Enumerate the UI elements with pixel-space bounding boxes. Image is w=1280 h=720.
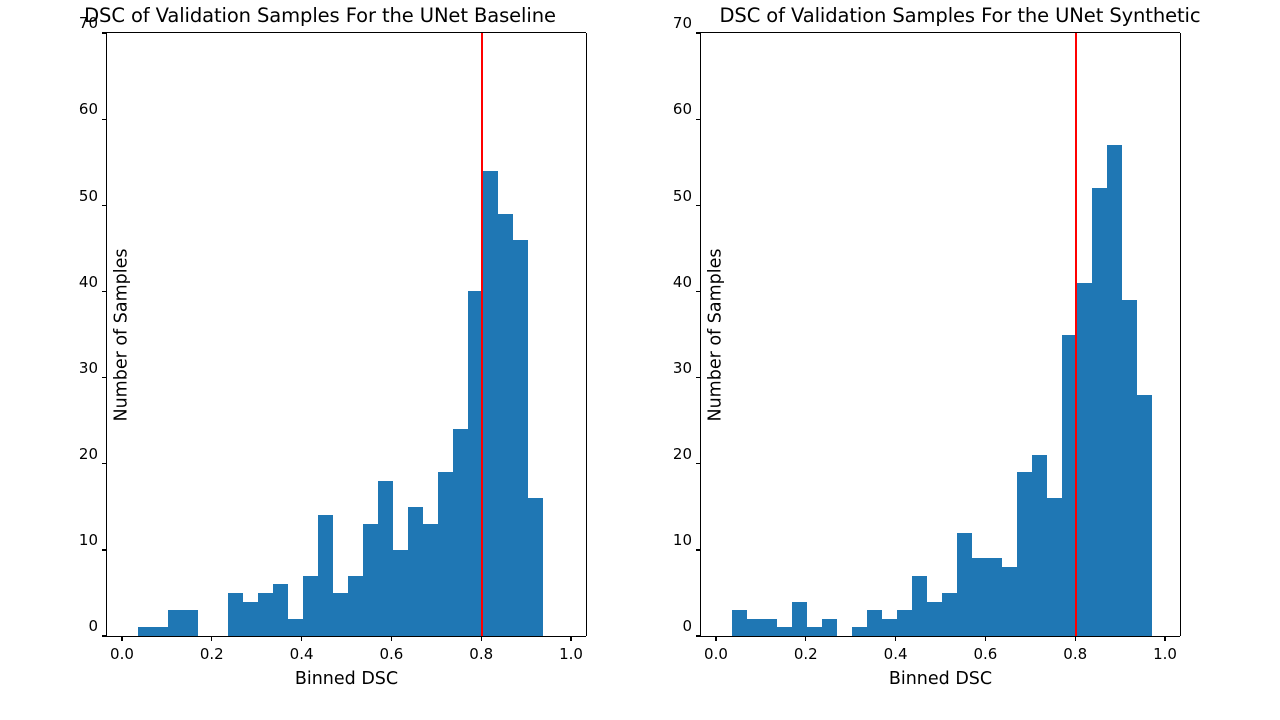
y-axis-tick — [696, 119, 701, 120]
x-axis-tick-label: 0.2 — [794, 645, 818, 663]
y-axis-tick — [102, 205, 107, 206]
histogram-bar — [513, 240, 528, 636]
histogram-bar — [1032, 455, 1047, 636]
histogram-bar — [777, 627, 792, 636]
histogram-bar — [882, 619, 897, 636]
histogram-bar — [1047, 498, 1062, 636]
y-axis-tick — [696, 377, 701, 378]
histogram-bar — [912, 576, 927, 636]
x-axis-label-synthetic: Binned DSC — [701, 669, 1180, 689]
histogram-bar — [1002, 567, 1017, 636]
threshold-vertical-line — [1075, 33, 1077, 636]
histogram-bar — [258, 593, 273, 636]
y-axis-tick — [696, 32, 701, 33]
y-axis-tick-label: 50 — [79, 187, 98, 205]
histogram-bar — [138, 627, 153, 636]
y-axis-tick — [102, 377, 107, 378]
y-axis-tick-label: 0 — [682, 617, 692, 635]
histogram-bar — [378, 481, 393, 636]
y-axis-tick — [696, 205, 701, 206]
x-axis-tick — [805, 636, 806, 641]
histogram-bars-synthetic — [701, 33, 1180, 636]
histogram-bar — [987, 558, 1002, 636]
x-axis-tick — [481, 636, 482, 641]
y-axis-tick — [102, 291, 107, 292]
x-axis-tick — [715, 636, 716, 641]
y-axis-tick — [102, 549, 107, 550]
x-axis-tick-label: 0.6 — [973, 645, 997, 663]
histogram-bar — [228, 593, 243, 636]
histogram-bar — [1092, 188, 1107, 636]
histogram-bar — [897, 610, 912, 636]
histogram-bar — [528, 498, 543, 636]
histogram-bar — [438, 472, 453, 636]
histogram-bars-baseline — [107, 33, 586, 636]
x-axis-tick — [301, 636, 302, 641]
y-axis-tick-label: 70 — [673, 14, 692, 32]
y-axis-tick-label: 60 — [673, 100, 692, 118]
x-axis-tick-label: 1.0 — [1153, 645, 1177, 663]
figure-canvas: DSC of Validation Samples For the UNet B… — [0, 0, 1280, 720]
axis-spine-right — [1180, 33, 1181, 636]
y-axis-tick-label: 40 — [673, 273, 692, 291]
histogram-bar — [303, 576, 318, 636]
x-axis-tick — [1164, 636, 1165, 641]
y-axis-tick-label: 30 — [673, 359, 692, 377]
x-axis-tick-label: 0.8 — [469, 645, 493, 663]
histogram-bar — [243, 602, 258, 636]
x-axis-tick — [985, 636, 986, 641]
histogram-bar — [318, 515, 333, 636]
histogram-bar — [1077, 283, 1092, 636]
axis-spine-right — [586, 33, 587, 636]
y-axis-tick-label: 30 — [79, 359, 98, 377]
y-axis-tick — [102, 463, 107, 464]
subplot-synthetic: DSC of Validation Samples For the UNet S… — [640, 0, 1280, 720]
subplot-baseline: DSC of Validation Samples For the UNet B… — [0, 0, 640, 720]
x-axis-tick — [1075, 636, 1076, 641]
histogram-bar — [423, 524, 438, 636]
histogram-bar — [867, 610, 882, 636]
histogram-bar — [498, 214, 513, 636]
y-axis-tick — [102, 32, 107, 33]
x-axis-tick-label: 0.0 — [110, 645, 134, 663]
histogram-bar — [1122, 300, 1137, 636]
histogram-bar — [852, 627, 867, 636]
histogram-bar — [153, 627, 168, 636]
histogram-bar — [168, 610, 183, 636]
y-axis-label-synthetic: Number of Samples — [706, 248, 726, 421]
histogram-bar — [183, 610, 198, 636]
plot-area-synthetic: 010203040506070 0.00.20.40.60.81.0 Binne… — [700, 33, 1180, 637]
histogram-bar — [1137, 395, 1152, 636]
x-axis-tick-label: 0.8 — [1063, 645, 1087, 663]
y-axis-tick — [696, 549, 701, 550]
y-axis-tick-label: 10 — [673, 531, 692, 549]
x-axis-tick-label: 0.6 — [379, 645, 403, 663]
histogram-bar — [957, 533, 972, 636]
plot-area-baseline: 010203040506070 0.00.20.40.60.81.0 Binne… — [106, 33, 586, 637]
subplot-synthetic-title: DSC of Validation Samples For the UNet S… — [640, 4, 1280, 27]
histogram-bar — [333, 593, 348, 636]
x-axis-tick — [570, 636, 571, 641]
threshold-vertical-line — [481, 33, 483, 636]
histogram-bar — [363, 524, 378, 636]
y-axis-tick — [696, 463, 701, 464]
y-axis-tick — [102, 635, 107, 636]
histogram-bar — [1107, 145, 1122, 636]
x-axis-label-baseline: Binned DSC — [107, 669, 586, 689]
histogram-bar — [927, 602, 942, 636]
y-axis-tick-label: 20 — [79, 445, 98, 463]
y-axis-tick — [696, 635, 701, 636]
histogram-bar — [273, 584, 288, 636]
x-axis-tick-label: 0.4 — [290, 645, 314, 663]
histogram-bar — [483, 171, 498, 636]
y-axis-label-baseline: Number of Samples — [112, 248, 132, 421]
y-axis-tick — [102, 119, 107, 120]
x-axis-tick-label: 0.2 — [200, 645, 224, 663]
histogram-bar — [288, 619, 303, 636]
histogram-bar — [822, 619, 837, 636]
histogram-bar — [807, 627, 822, 636]
histogram-bar — [942, 593, 957, 636]
histogram-bar — [408, 507, 423, 636]
y-axis-tick-label: 70 — [79, 14, 98, 32]
y-axis-tick-label: 50 — [673, 187, 692, 205]
y-axis-tick-label: 20 — [673, 445, 692, 463]
x-axis-tick-label: 0.4 — [884, 645, 908, 663]
histogram-bar — [792, 602, 807, 636]
x-axis-tick-label: 0.0 — [704, 645, 728, 663]
histogram-bar — [732, 610, 747, 636]
y-axis-tick — [696, 291, 701, 292]
x-axis-tick-label: 1.0 — [559, 645, 583, 663]
y-axis-tick-label: 0 — [88, 617, 98, 635]
x-axis-tick — [391, 636, 392, 641]
y-axis-tick-label: 10 — [79, 531, 98, 549]
y-axis-tick-label: 60 — [79, 100, 98, 118]
histogram-bar — [393, 550, 408, 636]
histogram-bar — [348, 576, 363, 636]
y-axis-tick-label: 40 — [79, 273, 98, 291]
x-axis-tick — [121, 636, 122, 641]
histogram-bar — [762, 619, 777, 636]
histogram-bar — [453, 429, 468, 636]
histogram-bar — [972, 558, 987, 636]
x-axis-tick — [211, 636, 212, 641]
histogram-bar — [1017, 472, 1032, 636]
histogram-bar — [747, 619, 762, 636]
x-axis-tick — [895, 636, 896, 641]
